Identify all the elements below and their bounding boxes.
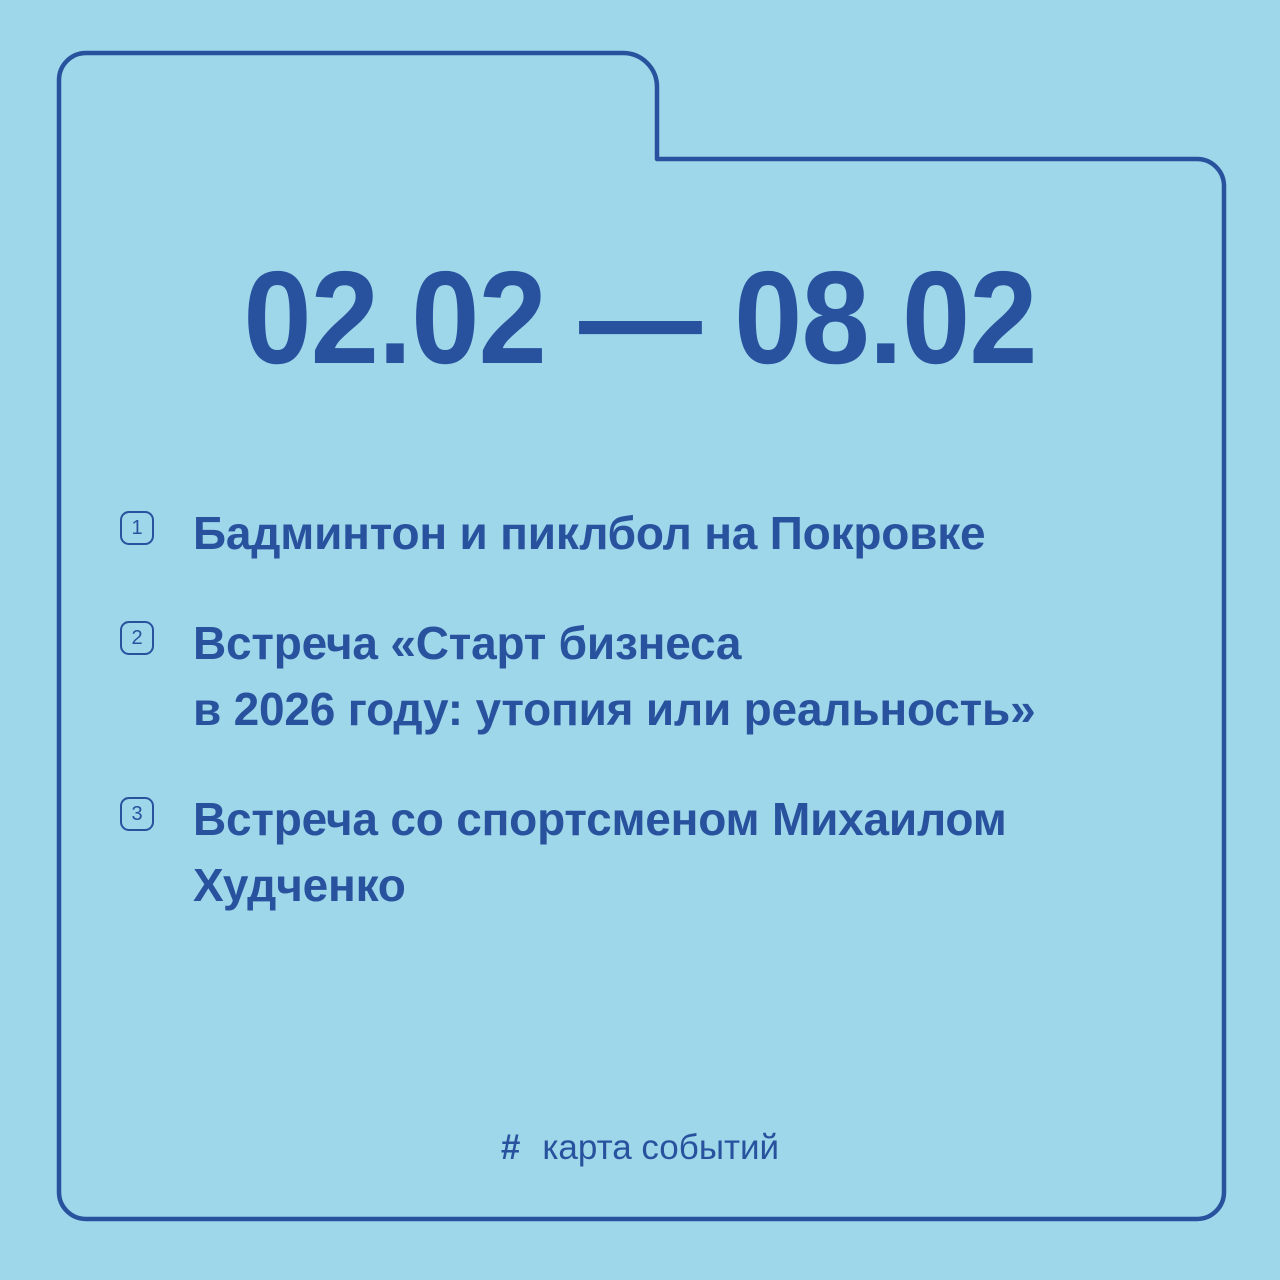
page-title: 02.02 — 08.02	[45, 252, 1235, 384]
hash-icon: #	[501, 1126, 520, 1170]
hashtag-label: карта событий	[542, 1126, 779, 1170]
event-title: Бадминтон и пиклбол на Покровке	[193, 500, 1230, 566]
event-title: Встреча со спортсменом Михаилом Худченко	[193, 786, 1230, 918]
poster-canvas: 02.02 — 08.02 1 Бадминтон и пиклбол на П…	[0, 0, 1280, 1280]
list-item[interactable]: 3 Встреча со спортсменом Михаилом Худчен…	[120, 786, 1230, 918]
events-list: 1 Бадминтон и пиклбол на Покровке 2 Встр…	[120, 500, 1230, 962]
footer-hashtag[interactable]: #карта событий	[0, 1126, 1280, 1170]
event-number-badge: 3	[120, 797, 154, 831]
list-item[interactable]: 1 Бадминтон и пиклбол на Покровке	[120, 500, 1230, 566]
event-number-badge: 1	[120, 511, 154, 545]
event-title: Встреча «Старт бизнеса в 2026 году: утоп…	[193, 610, 1230, 742]
event-number-badge: 2	[120, 621, 154, 655]
list-item[interactable]: 2 Встреча «Старт бизнеса в 2026 году: ут…	[120, 610, 1230, 742]
